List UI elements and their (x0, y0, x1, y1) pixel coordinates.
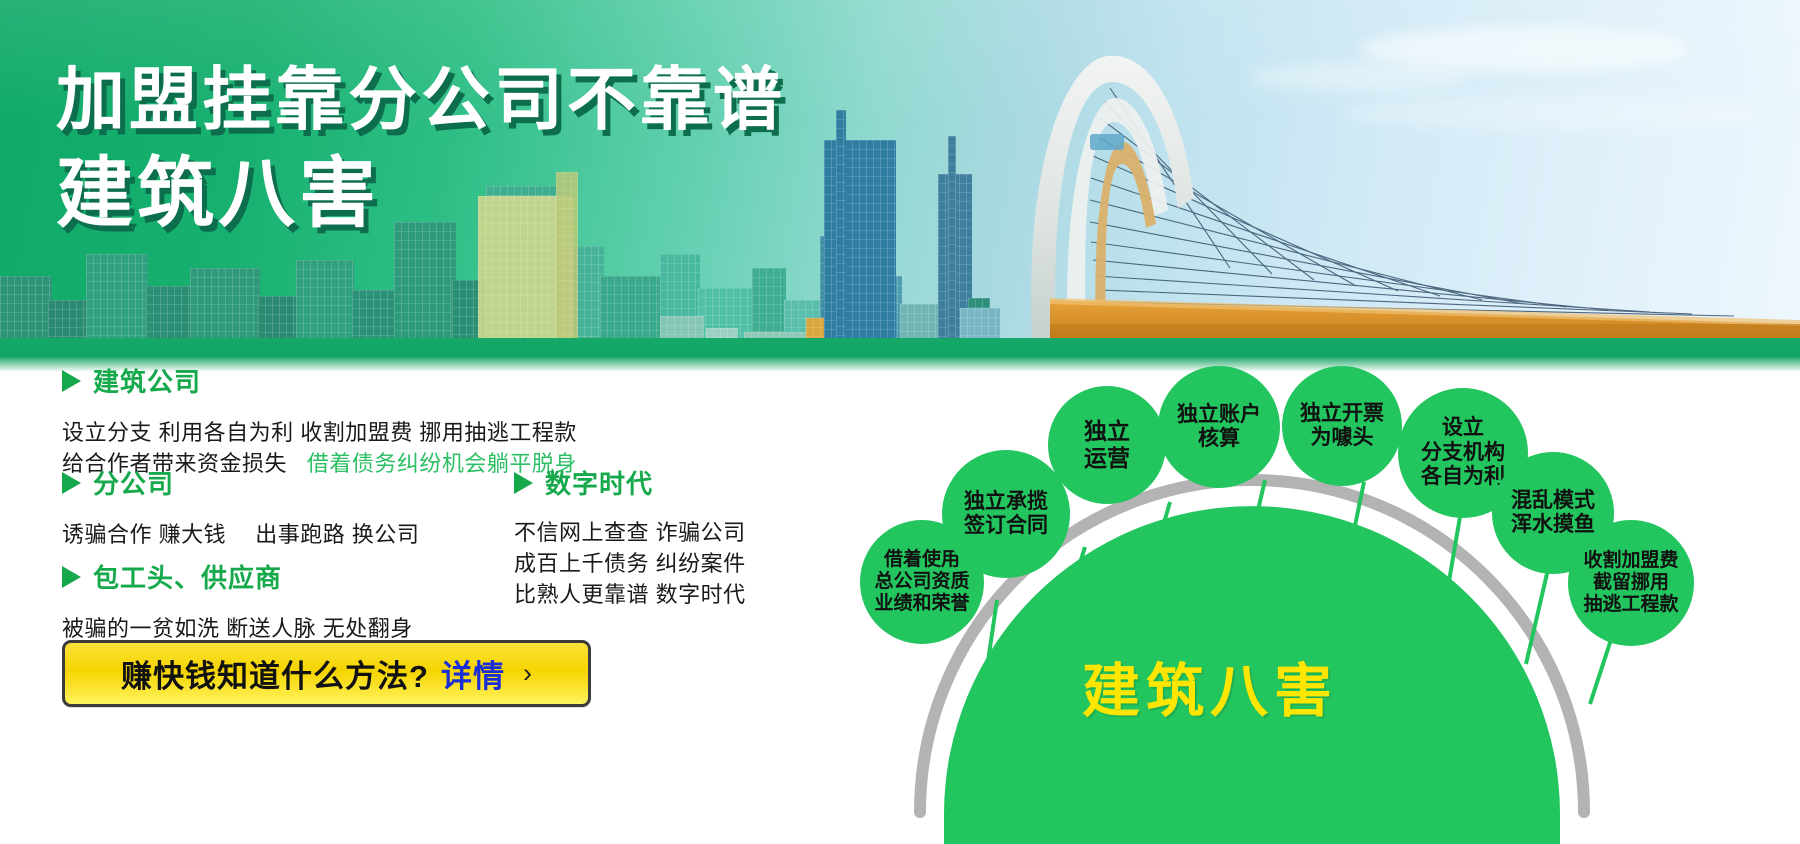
section-header: 包工头、供应商 (62, 558, 413, 595)
bubble-text: 借着使用 总公司资质 业绩和荣誉 (870, 549, 973, 615)
cta-button[interactable]: 赚快钱知道什么方法? 详情 › (62, 640, 591, 707)
body-line: 成百上千债务 纠纷案件 (514, 548, 746, 579)
bubble-independent-invoicing[interactable]: 独立开票 为噱头 (1282, 366, 1402, 486)
section-header: 分公司 (62, 464, 419, 501)
hero-banner: 加盟挂靠分公司不靠谱 建筑八害 (0, 0, 1800, 372)
bubble-text: 独立账户 核算 (1173, 403, 1265, 452)
hero-title-line1: 加盟挂靠分公司不靠谱 (56, 58, 786, 142)
body-line: 设立分支 利用各自为利 收割加盟费 挪用抽逃工程款 (62, 417, 577, 448)
section-branch-company: 分公司 诱骗合作 赚大钱 出事跑路 换公司 (62, 464, 419, 550)
chevron-right-icon: › (523, 658, 532, 689)
section-digital-era: 数字时代 不信网上查查 诈骗公司 成百上千债务 纠纷案件 比熟人更靠谱 数字时代 (514, 464, 746, 610)
section-title: 建筑公司 (93, 362, 201, 399)
section-title: 包工头、供应商 (93, 558, 282, 595)
section-title: 数字时代 (545, 464, 653, 501)
triangle-bullet-icon (62, 370, 81, 392)
bubble-text: 独立开票 为噱头 (1296, 402, 1388, 451)
section-header: 建筑公司 (62, 362, 577, 399)
bubble-text: 独立 运营 (1080, 418, 1134, 471)
triangle-bullet-icon (514, 472, 533, 494)
bubble-harvest-franchise-fee[interactable]: 收割加盟费 截留挪用 抽逃工程款 (1568, 520, 1694, 646)
bubble-independent-contracting[interactable]: 独立承揽 签订合同 (942, 450, 1070, 578)
triangle-bullet-icon (62, 472, 81, 494)
section-construction-company: 建筑公司 设立分支 利用各自为利 收割加盟费 挪用抽逃工程款 给合作者带来资金损… (62, 362, 577, 479)
bubble-text: 混乱模式 浑水摸鱼 (1507, 489, 1599, 538)
hero-title-line2: 建筑八害 (56, 148, 786, 240)
bubble-text: 独立承揽 签订合同 (960, 490, 1052, 539)
promo-banner-page: 加盟挂靠分公司不靠谱 建筑八害 建筑公司 设立分支 利用各自为利 收割加盟费 挪… (0, 0, 1800, 844)
section-header: 数字时代 (514, 464, 746, 501)
bubble-independent-operation[interactable]: 独立 运营 (1048, 386, 1166, 504)
body-line: 不信网上查查 诈骗公司 (514, 517, 746, 548)
body-line: 诱骗合作 赚大钱 出事跑路 换公司 (62, 519, 419, 550)
section-title: 分公司 (93, 464, 174, 501)
section-body: 不信网上查查 诈骗公司 成百上千债务 纠纷案件 比熟人更靠谱 数字时代 (514, 517, 746, 610)
cta-question-text: 赚快钱知道什么方法? (121, 651, 429, 696)
body-text: 设立分支 利用各自为利 收割加盟费 挪用抽逃工程款 (62, 420, 577, 445)
bubble-text: 收割加盟费 截留挪用 抽逃工程款 (1579, 550, 1682, 616)
section-contractor-supplier: 包工头、供应商 被骗的一贫如洗 断送人脉 无处翻身 (62, 558, 413, 644)
bubble-text: 设立 分支机构 各自为利 (1417, 416, 1509, 489)
triangle-bullet-icon (62, 566, 81, 588)
body-line: 比熟人更靠谱 数字时代 (514, 579, 746, 610)
cta-detail-link[interactable]: 详情 (441, 651, 505, 696)
section-body: 诱骗合作 赚大钱 出事跑路 换公司 (62, 519, 419, 550)
dome-center-label: 建筑八害 (760, 644, 1660, 728)
hero-title: 加盟挂靠分公司不靠谱 建筑八害 (56, 58, 786, 240)
dome-diagram: 借着使用 总公司资质 业绩和荣誉 独立承揽 签订合同 独立 运营 独立账户 核算 (900, 372, 1800, 844)
left-content-panel: 建筑公司 设立分支 利用各自为利 收割加盟费 挪用抽逃工程款 给合作者带来资金损… (0, 372, 900, 844)
bubble-independent-account[interactable]: 独立账户 核算 (1158, 366, 1280, 488)
